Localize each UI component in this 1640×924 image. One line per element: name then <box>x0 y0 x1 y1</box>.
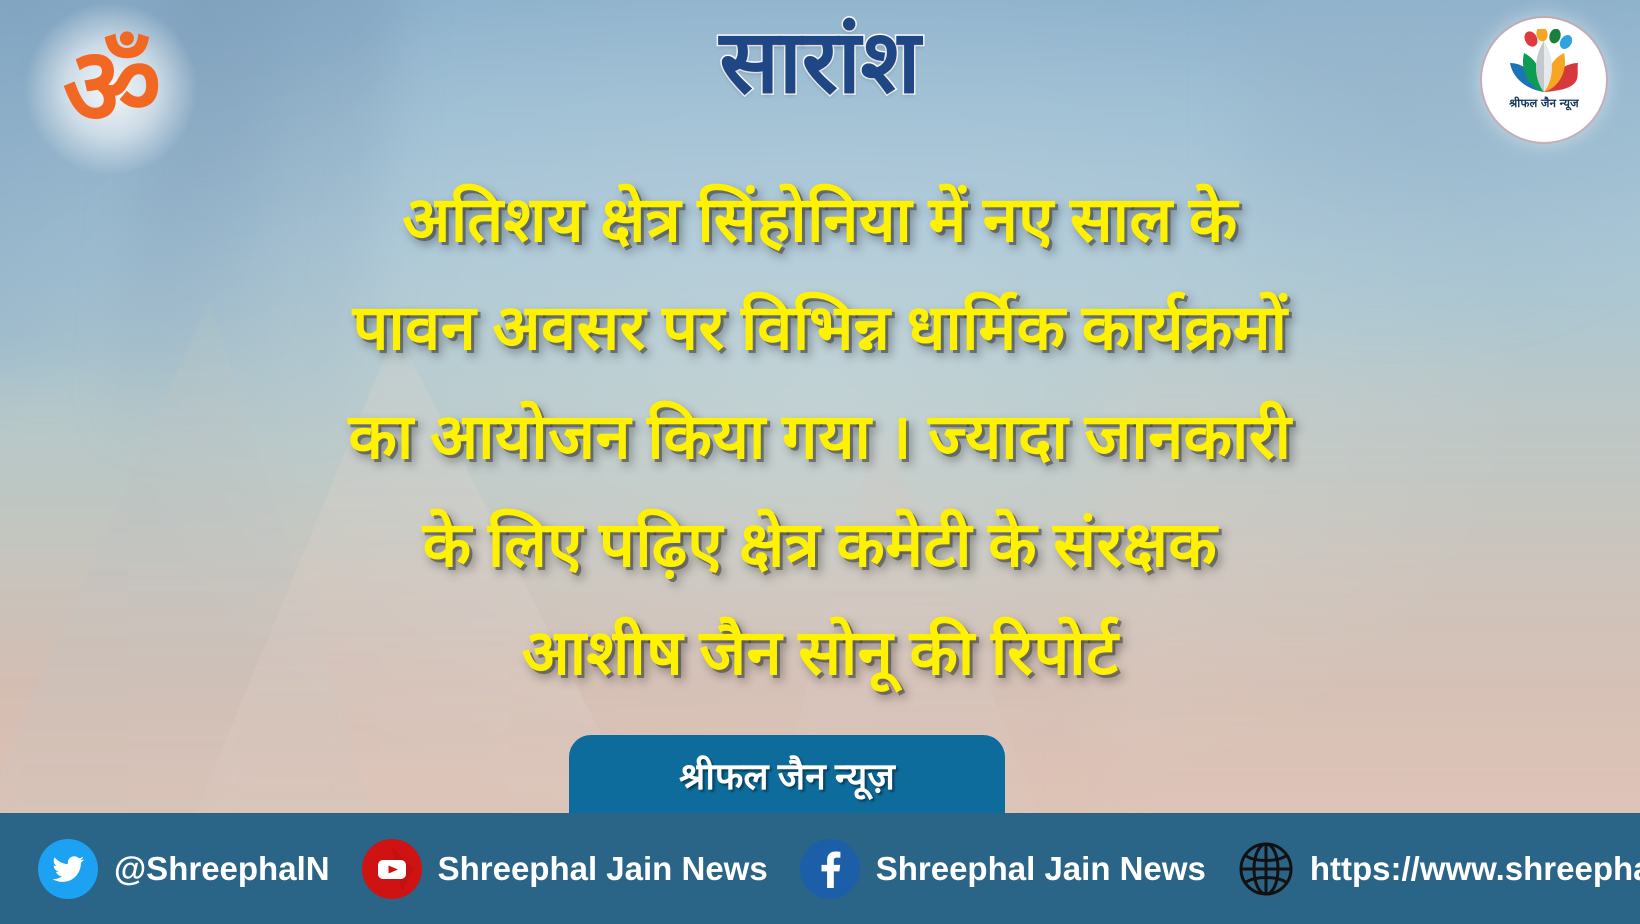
footer-item-twitter[interactable]: @ShreephalN <box>38 839 330 899</box>
summary-line-3: का आयोजन किया गया । ज्यादा जानकारी <box>70 383 1570 491</box>
brand-badge: श्रीफल जैन न्यूज़ <box>569 735 1005 813</box>
page-title: सारांश <box>0 16 1640 111</box>
footer-item-website[interactable]: https://www.shreephaljainnews.com <box>1238 841 1640 897</box>
footer-label-youtube: Shreephal Jain News <box>438 850 768 888</box>
footer-label-facebook: Shreephal Jain News <box>876 850 1206 888</box>
footer-label-website: https://www.shreephaljainnews.com <box>1310 850 1640 888</box>
summary-line-2: पावन अवसर पर विभिन्न धार्मिक कार्यक्रमों <box>70 274 1570 382</box>
summary-line-1: अतिशय क्षेत्र सिंहोनिया में नए साल के <box>70 166 1570 274</box>
facebook-icon[interactable] <box>800 839 860 899</box>
social-footer-bar: @ShreephalN Shreephal Jain News Shreepha… <box>0 813 1640 924</box>
footer-item-youtube[interactable]: Shreephal Jain News <box>362 839 768 899</box>
summary-body-text: अतिशय क्षेत्र सिंहोनिया में नए साल के पा… <box>70 166 1570 708</box>
summary-line-5: आशीष जैन सोनू की रिपोर्ट <box>70 599 1570 707</box>
twitter-icon[interactable] <box>38 839 98 899</box>
globe-icon[interactable] <box>1238 841 1294 897</box>
summary-line-4: के लिए पढ़िए क्षेत्र कमेटी के संरक्षक <box>70 491 1570 599</box>
brand-badge-label: श्रीफल जैन न्यूज़ <box>679 749 895 800</box>
footer-item-facebook[interactable]: Shreephal Jain News <box>800 839 1206 899</box>
footer-label-twitter: @ShreephalN <box>114 850 330 888</box>
poster-canvas: ॐ श्रीफल जैन न्यूज सारांश अतिशय क्षेत्र … <box>0 0 1640 924</box>
youtube-icon[interactable] <box>362 839 422 899</box>
